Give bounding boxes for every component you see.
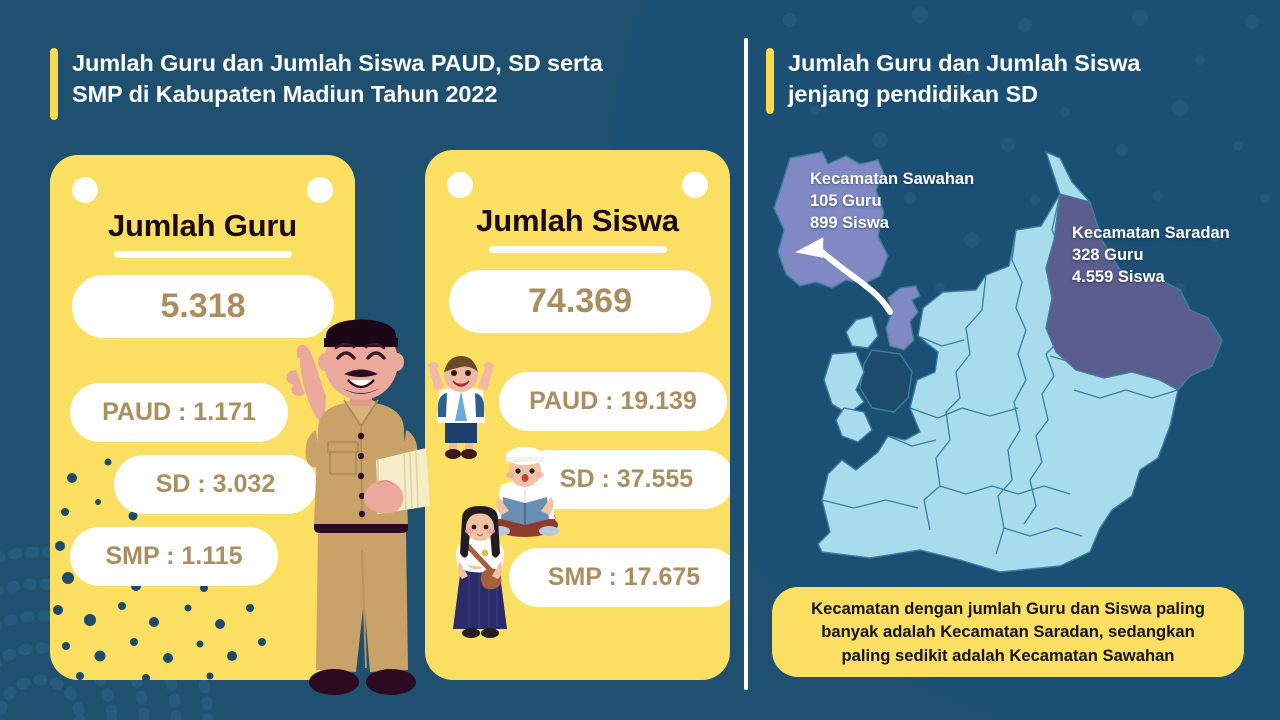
map-district-dark [860, 350, 912, 412]
callout-label-saradan: Kecamatan Saradan 328 Guru 4.559 Siswa [1072, 222, 1230, 288]
left-title-text: Jumlah Guru dan Jumlah Siswa PAUD, SD se… [72, 48, 603, 120]
map-district-sawahan [886, 286, 920, 350]
guru-smp-row: SMP : 1.115 [70, 527, 278, 586]
vertical-divider [744, 38, 748, 690]
map-lobe-c [836, 408, 872, 442]
title-accent-bar [50, 48, 58, 120]
map-lobe-a [846, 316, 878, 348]
girl-student-illustration [445, 505, 515, 645]
right-panel-title: Jumlah Guru dan Jumlah Siswa jenjang pen… [766, 48, 1236, 114]
guru-paud-row: PAUD : 1.171 [70, 383, 288, 442]
card-heading-underline [114, 251, 292, 258]
title-accent-bar [766, 48, 774, 114]
summary-caption-box: Kecamatan dengan jumlah Guru dan Siswa p… [772, 587, 1244, 677]
infographic-canvas: Jumlah Guru dan Jumlah Siswa PAUD, SD se… [0, 0, 1280, 720]
siswa-total-value: 74.369 [449, 270, 711, 333]
left-panel-title: Jumlah Guru dan Jumlah Siswa PAUD, SD se… [50, 48, 710, 120]
right-title-text: Jumlah Guru dan Jumlah Siswa jenjang pen… [788, 48, 1140, 114]
card-heading-underline [489, 246, 667, 253]
card-punch-hole-right [307, 177, 333, 203]
card-punch-hole-right [682, 172, 708, 198]
siswa-paud-row: PAUD : 19.139 [499, 372, 727, 431]
map-lobe-b [824, 352, 864, 414]
card-punch-hole-left [447, 172, 473, 198]
madiun-district-map: Kecamatan Sawahan 105 Guru 899 Siswa Kec… [760, 140, 1265, 580]
callout-label-sawahan: Kecamatan Sawahan 105 Guru 899 Siswa [810, 168, 974, 234]
card-heading-siswa: Jumlah Siswa [425, 203, 730, 239]
siswa-smp-row: SMP : 17.675 [509, 548, 730, 607]
card-punch-hole-left [72, 177, 98, 203]
summary-caption-text: Kecamatan dengan jumlah Guru dan Siswa p… [811, 597, 1205, 668]
card-heading-guru: Jumlah Guru [50, 208, 355, 244]
